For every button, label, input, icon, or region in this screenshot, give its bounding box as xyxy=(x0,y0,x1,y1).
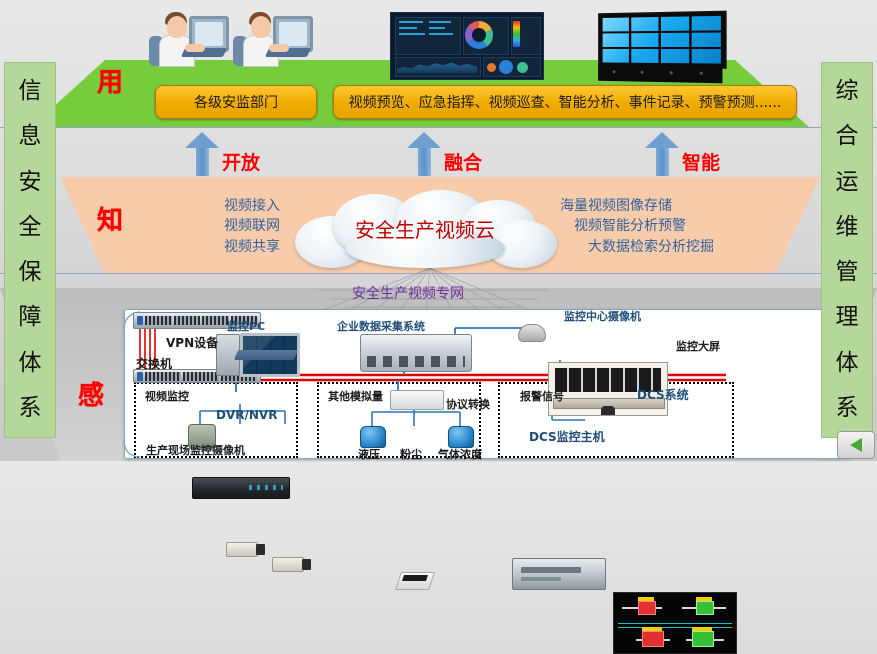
gas-sensor-icon xyxy=(448,426,474,448)
vpn-label: VPN设备 xyxy=(166,334,218,351)
arrow-label-open: 开放 xyxy=(222,148,260,175)
next-slide-arrow-icon[interactable] xyxy=(837,431,875,459)
dcs-system-label: DCS系统 xyxy=(637,386,689,403)
stage-label-sense: 感 xyxy=(78,375,104,412)
dept-box[interactable]: 各级安监部门 xyxy=(155,85,317,119)
monitor-pc-label: 监控PC xyxy=(227,318,265,334)
arrow-label-intelligent: 智能 xyxy=(682,148,720,175)
cloud-layer-divider xyxy=(0,273,877,274)
right-sidebar-char-2: 运 xyxy=(836,171,859,194)
left-sidebar-char-4: 保 xyxy=(19,261,42,284)
arrow-open xyxy=(185,132,219,176)
gas-label: 气体浓度 xyxy=(438,446,482,462)
dust-sensor-icon xyxy=(395,572,435,590)
video-wall-image xyxy=(598,11,722,84)
bullet-camera-icon-1 xyxy=(226,542,258,557)
right-sidebar-char-4: 管 xyxy=(836,261,859,284)
left-sidebar-char-0: 信 xyxy=(19,80,42,103)
video-monitor-label: 视频监控 xyxy=(145,388,189,404)
right-sidebar-char-7: 系 xyxy=(836,397,859,420)
network-label: 安全生产视频专网 xyxy=(352,283,464,303)
right-sidebar-ops-management: 综 合 运 维 管 理 体 系 xyxy=(821,62,873,438)
operators-illustration xyxy=(145,8,315,70)
cloud-right-items: 海量视频图像存储 视频智能分析预警 大数据检索分析挖掘 xyxy=(560,196,770,257)
switch-label: 交换机 xyxy=(136,355,172,372)
cloud-title: 安全生产视频云 xyxy=(285,214,565,243)
pc-keyboard-icon xyxy=(234,350,298,360)
dust-label: 粉尘 xyxy=(400,446,422,462)
other-analog-label: 其他模拟量 xyxy=(328,388,383,404)
cloud-right-item-1: 海量视频图像存储 xyxy=(560,196,770,216)
dvr-nvr-icon xyxy=(192,477,290,499)
arrow-converge xyxy=(407,132,441,176)
left-sidebar-char-3: 全 xyxy=(19,216,42,239)
arrow-label-converge: 融合 xyxy=(444,148,482,175)
site-camera-label: 生产现场监控摄像机 xyxy=(146,442,245,458)
alarm-signal-label: 报警信号 xyxy=(520,388,564,404)
data-collect-server-icon xyxy=(360,334,472,372)
right-sidebar-char-1: 合 xyxy=(836,125,859,148)
dome-camera-icon xyxy=(518,324,546,342)
bullet-camera-icon-2 xyxy=(272,557,304,572)
protocol-convert-label: 协议转换 xyxy=(446,396,490,412)
protocol-converter-icon xyxy=(390,390,444,410)
cloud-right-item-2: 视频智能分析预警 xyxy=(560,216,770,236)
dcs-host-icon xyxy=(512,558,606,590)
cloud-left-items: 视频接入 视频联网 视频共享 xyxy=(120,196,280,257)
cloud-right-item-3: 大数据检索分析挖掘 xyxy=(560,237,770,257)
stage-label-use: 用 xyxy=(97,62,123,99)
hydraulic-label: 液压 xyxy=(358,446,380,462)
dcs-screen-icon xyxy=(613,592,737,654)
hydraulic-sensor-icon xyxy=(360,426,386,448)
left-sidebar-information-security: 信 息 安 全 保 障 体 系 xyxy=(4,62,56,438)
big-screen-label: 监控大屏 xyxy=(676,338,720,354)
center-camera-label: 监控中心摄像机 xyxy=(564,308,641,324)
left-sidebar-char-2: 安 xyxy=(19,171,42,194)
left-sidebar-char-5: 障 xyxy=(19,306,42,329)
functions-box[interactable]: 视频预览、应急指挥、视频巡查、智能分析、事件记录、预警预测...... xyxy=(333,85,797,119)
arrow-intelligent xyxy=(645,132,679,176)
left-sidebar-char-7: 系 xyxy=(19,397,42,420)
application-layer-divider xyxy=(0,127,877,128)
data-collect-label: 企业数据采集系统 xyxy=(337,318,425,334)
dcs-host-label: DCS监控主机 xyxy=(529,428,605,445)
right-sidebar-char-3: 维 xyxy=(836,216,859,239)
right-sidebar-char-6: 体 xyxy=(836,352,859,375)
left-sidebar-char-1: 息 xyxy=(19,125,42,148)
right-sidebar-char-5: 理 xyxy=(836,306,859,329)
cloud-left-item-1: 视频接入 xyxy=(120,196,280,216)
stage-label-know: 知 xyxy=(97,200,123,237)
analytics-dashboard-image xyxy=(390,12,544,80)
dvr-nvr-label: DVR/NVR xyxy=(216,408,277,422)
architecture-diagram: 用 知 感 各级安监部门 视频预览、应急指挥、视频巡查、智能分析、事件记录、预警… xyxy=(0,0,877,461)
cloud-left-item-2: 视频联网 xyxy=(120,216,280,236)
cloud-left-item-3: 视频共享 xyxy=(120,237,280,257)
right-sidebar-char-0: 综 xyxy=(836,80,859,103)
left-sidebar-char-6: 体 xyxy=(19,352,42,375)
